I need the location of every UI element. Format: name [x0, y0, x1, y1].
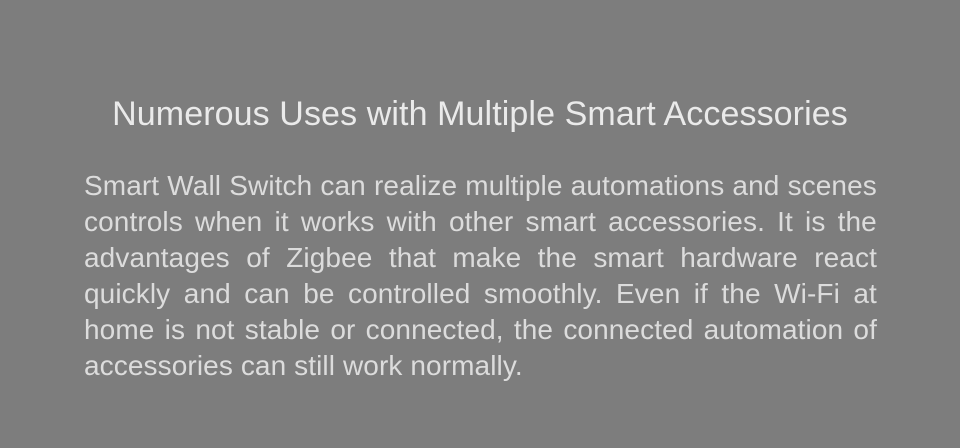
body-word: with — [387, 204, 437, 240]
body-word: quickly — [84, 276, 170, 312]
promo-banner: Numerous Uses with Multiple Smart Access… — [0, 0, 960, 448]
body-word: be — [303, 276, 334, 312]
body-word: smoothly. — [484, 276, 603, 312]
body-word: when — [195, 204, 262, 240]
body-line-5: homeisnotstableorconnected,theconnecteda… — [84, 312, 877, 348]
page-title: Numerous Uses with Multiple Smart Access… — [0, 92, 960, 136]
body-word: make — [452, 240, 521, 276]
body-word: Switch — [229, 168, 312, 204]
body-word: of — [853, 312, 877, 348]
body-word: smart — [593, 240, 664, 276]
body-word: controls — [84, 204, 183, 240]
body-word: stable — [245, 312, 320, 348]
body-word: it — [275, 204, 289, 240]
body-word: the — [838, 204, 877, 240]
body-word: connected, — [366, 312, 504, 348]
body-word: can — [244, 276, 289, 312]
body-word: realize — [374, 168, 457, 204]
body-word: automation — [704, 312, 844, 348]
body-line-1: SmartWallSwitchcanrealizemultipleautomat… — [84, 168, 877, 204]
body-word: Even — [616, 276, 680, 312]
body-word: or — [330, 312, 355, 348]
body-word: accessories. — [608, 204, 765, 240]
body-word: other — [449, 204, 513, 240]
body-word: Zigbee — [286, 240, 372, 276]
body-word: works — [301, 204, 375, 240]
body-word: react — [814, 240, 877, 276]
body-word: is — [165, 312, 185, 348]
body-line-6: accessories can still work normally. — [84, 348, 877, 384]
body-word: Wall — [167, 168, 221, 204]
body-word: not — [195, 312, 234, 348]
body-word: multiple — [465, 168, 562, 204]
body-word: Smart — [84, 168, 159, 204]
body-word: controlled — [348, 276, 470, 312]
body-paragraph: SmartWallSwitchcanrealizemultipleautomat… — [84, 168, 877, 384]
body-word: advantages — [84, 240, 230, 276]
body-word: scenes — [788, 168, 877, 204]
body-word: automations — [571, 168, 725, 204]
body-word: can — [320, 168, 365, 204]
body-word: of — [246, 240, 270, 276]
body-word: and — [732, 168, 779, 204]
body-word: the — [721, 276, 760, 312]
body-line-2: controlswhenitworkswithothersmartaccesso… — [84, 204, 877, 240]
body-word: that — [389, 240, 436, 276]
body-word: is — [805, 204, 825, 240]
body-word: Wi‑Fi — [774, 276, 840, 312]
body-word: if — [694, 276, 708, 312]
body-word: at — [853, 276, 877, 312]
body-word: smart — [525, 204, 596, 240]
body-word: the — [514, 312, 553, 348]
body-word: the — [538, 240, 577, 276]
body-word: and — [184, 276, 231, 312]
body-word: It — [777, 204, 793, 240]
body-word: connected — [563, 312, 693, 348]
body-word: hardware — [680, 240, 798, 276]
body-line-3: advantagesofZigbeethatmakethesmarthardwa… — [84, 240, 877, 276]
body-line-4: quicklyandcanbecontrolledsmoothly.Evenif… — [84, 276, 877, 312]
body-word: home — [84, 312, 154, 348]
